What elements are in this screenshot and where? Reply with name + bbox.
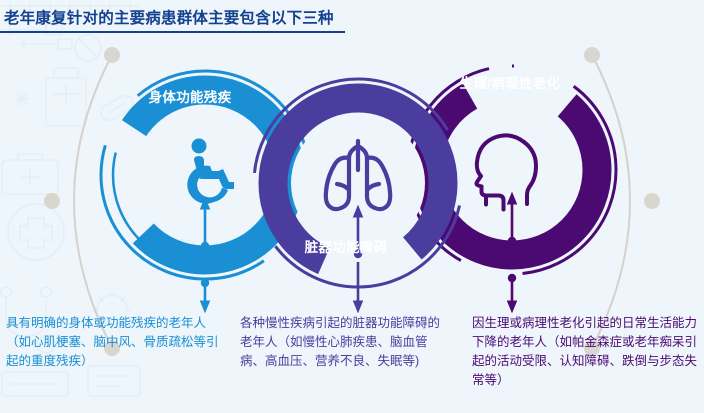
description-text-1: 具有明确的身体或功能残疾的老年人（如心肌梗塞、脑中风、骨质疏松等引起的重度残疾） — [6, 314, 220, 371]
ring-label-1: 身体功能残疾 — [120, 86, 260, 106]
ring-label-3: 生理/病理性老化 — [430, 72, 590, 92]
description-text-3: 因生理或病理性老化引起的日常生活能力下降的老年人（如帕金森症或老年痴呆引起的活动… — [472, 314, 700, 390]
infographic-page: 老年康复针对的主要病患群体主要包含以下三种 — [0, 0, 704, 413]
description-text-2: 各种慢性疾病引起的脏器功能障碍的老年人（如慢性心肺疾患、脑血管病、高血压、营养不… — [240, 314, 452, 371]
ring-label-2: 脏器功能障碍 — [266, 236, 426, 256]
